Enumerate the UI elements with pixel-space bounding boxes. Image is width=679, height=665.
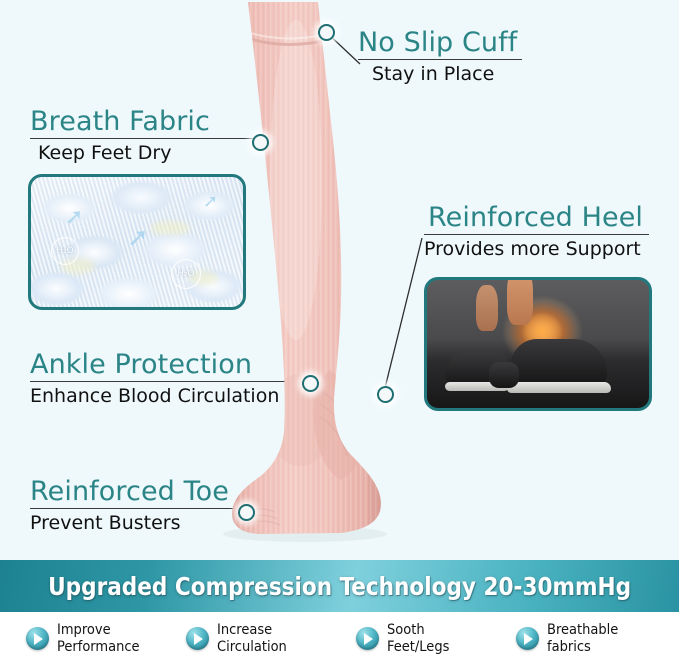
benefit-item: Improve Performance — [26, 622, 186, 656]
benefit-line-1: Improve — [57, 622, 140, 639]
callout-title: No Slip Cuff — [358, 28, 522, 58]
anchor-dot-cuff[interactable] — [318, 24, 335, 41]
play-arrow-icon — [26, 627, 49, 650]
moisture-arrow-icon: ➚ — [65, 207, 83, 229]
moisture-arrow-icon: ➚ — [127, 225, 149, 251]
callout-subtitle: Keep Feet Dry — [38, 141, 258, 165]
benefit-line-1: Breathable — [547, 622, 618, 639]
callout-underline — [424, 234, 649, 235]
callout-reinforced-toe: Reinforced Toe Prevent Busters — [30, 477, 244, 535]
callout-ankle-protection: Ankle Protection Enhance Blood Circulati… — [30, 350, 308, 408]
callout-subtitle: Enhance Blood Circulation — [30, 384, 308, 408]
callout-underline — [30, 138, 258, 139]
benefit-label: Increase Circulation — [217, 622, 287, 656]
callout-reinforced-heel: Reinforced Heel Provides more Support — [424, 203, 649, 261]
callout-title: Reinforced Toe — [30, 477, 244, 507]
benefit-item: Breathable fabrics — [516, 622, 666, 656]
benefit-line-2: Performance — [57, 639, 140, 656]
callout-underline — [358, 59, 522, 60]
benefit-line-1: Sooth — [387, 622, 449, 639]
benefit-line-2: fabrics — [547, 639, 618, 656]
anchor-dot-toe[interactable] — [238, 504, 255, 521]
inset-fabric-photo: ➚ ➚ ➚ H₂O H₂O — [28, 174, 246, 310]
h2o-bubble-label: H₂O — [171, 259, 201, 289]
callout-breath-fabric: Breath Fabric Keep Feet Dry — [30, 107, 258, 165]
moisture-arrow-icon: ➚ — [203, 193, 218, 211]
h2o-bubble-label: H₂O — [51, 237, 79, 265]
anchor-dot-calf[interactable] — [252, 134, 269, 151]
benefit-label: Sooth Feet/Legs — [387, 622, 449, 656]
play-arrow-icon — [356, 627, 379, 650]
callout-underline — [30, 508, 244, 509]
callout-no-slip-cuff: No Slip Cuff Stay in Place — [358, 28, 522, 86]
anchor-dot-ankle[interactable] — [302, 375, 319, 392]
play-arrow-icon — [516, 627, 539, 650]
banner-headline: Upgraded Compression Technology 20-30mmH… — [48, 572, 631, 601]
callout-title: Breath Fabric — [30, 107, 258, 137]
anchor-dot-heel[interactable] — [377, 386, 394, 403]
callout-underline — [30, 381, 308, 382]
callout-subtitle: Prevent Busters — [30, 511, 244, 535]
benefit-line-1: Increase — [217, 622, 287, 639]
benefit-line-2: Circulation — [217, 639, 287, 656]
benefit-label: Improve Performance — [57, 622, 140, 656]
benefit-line-2: Feet/Legs — [387, 639, 449, 656]
benefits-row: Improve Performance Increase Circulation… — [0, 612, 679, 665]
infographic-canvas: No Slip Cuff Stay in Place Breath Fabric… — [0, 0, 679, 665]
benefit-item: Increase Circulation — [186, 622, 356, 656]
benefit-item: Sooth Feet/Legs — [356, 622, 516, 656]
compression-banner: Upgraded Compression Technology 20-30mmH… — [0, 560, 679, 612]
callout-title: Ankle Protection — [30, 350, 308, 380]
inset-shoe-photo — [424, 277, 652, 411]
play-arrow-icon — [186, 627, 209, 650]
callout-title: Reinforced Heel — [428, 203, 649, 233]
benefit-label: Breathable fabrics — [547, 622, 618, 656]
callout-subtitle: Provides more Support — [424, 237, 649, 261]
callout-subtitle: Stay in Place — [372, 62, 522, 86]
